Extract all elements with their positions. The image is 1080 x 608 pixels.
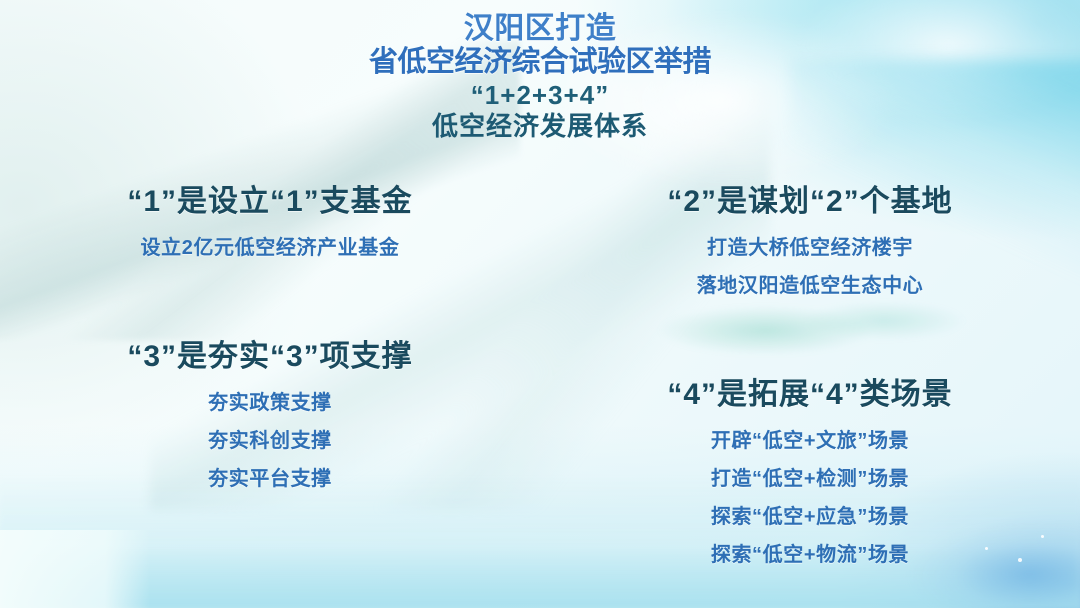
list-item: 打造大桥低空经济楼宇 (568, 238, 1052, 258)
poster-title-block: 汉阳区打造 省低空经济综合试验区举措 “1+2+3+4” 低空经济发展体系 (0, 14, 1080, 139)
section-heading-bases: “2”是谋划“2”个基地 (568, 176, 1052, 220)
list-item: 设立2亿元低空经济产业基金 (28, 238, 512, 258)
section-fund: “1”是设立“1”支基金 设立2亿元低空经济产业基金 (28, 176, 512, 258)
list-item: 打造“低空+检测”场景 (568, 469, 1052, 489)
list-item: 夯实平台支撑 (28, 469, 512, 489)
section-scenarios: “4”是拓展“4”类场景 开辟“低空+文旅”场景 打造“低空+检测”场景 探索“… (568, 369, 1052, 565)
right-column: “2”是谋划“2”个基地 打造大桥低空经济楼宇 落地汉阳造低空生态中心 “4”是… (540, 168, 1080, 568)
list-item: 落地汉阳造低空生态中心 (568, 276, 1052, 296)
infographic-poster: 汉阳区打造 省低空经济综合试验区举措 “1+2+3+4” 低空经济发展体系 “1… (0, 0, 1080, 608)
list-item: 探索“低空+应急”场景 (568, 507, 1052, 527)
left-column: “1”是设立“1”支基金 设立2亿元低空经济产业基金 “3”是夯实“3”项支撑 … (0, 168, 540, 568)
section-heading-scenarios: “4”是拓展“4”类场景 (568, 369, 1052, 413)
section-heading-support: “3”是夯实“3”项支撑 (28, 331, 512, 375)
list-item: 探索“低空+物流”场景 (568, 545, 1052, 565)
list-item: 夯实政策支撑 (28, 393, 512, 413)
section-heading-fund: “1”是设立“1”支基金 (28, 176, 512, 220)
section-support: “3”是夯实“3”项支撑 夯实政策支撑 夯实科创支撑 夯实平台支撑 (28, 331, 512, 489)
section-items-support: 夯实政策支撑 夯实科创支撑 夯实平台支撑 (28, 393, 512, 489)
list-item: 夯实科创支撑 (28, 431, 512, 451)
title-line-1: 汉阳区打造 (0, 14, 1080, 44)
title-line-3: “1+2+3+4” (0, 82, 1080, 108)
section-items-bases: 打造大桥低空经济楼宇 落地汉阳造低空生态中心 (568, 238, 1052, 296)
list-item: 开辟“低空+文旅”场景 (568, 431, 1052, 451)
section-bases: “2”是谋划“2”个基地 打造大桥低空经济楼宇 落地汉阳造低空生态中心 (568, 176, 1052, 296)
title-line-4: 低空经济发展体系 (0, 113, 1080, 139)
content-columns: “1”是设立“1”支基金 设立2亿元低空经济产业基金 “3”是夯实“3”项支撑 … (0, 168, 1080, 568)
section-items-fund: 设立2亿元低空经济产业基金 (28, 238, 512, 258)
section-items-scenarios: 开辟“低空+文旅”场景 打造“低空+检测”场景 探索“低空+应急”场景 探索“低… (568, 431, 1052, 565)
title-line-2: 省低空经济综合试验区举措 (0, 48, 1080, 77)
